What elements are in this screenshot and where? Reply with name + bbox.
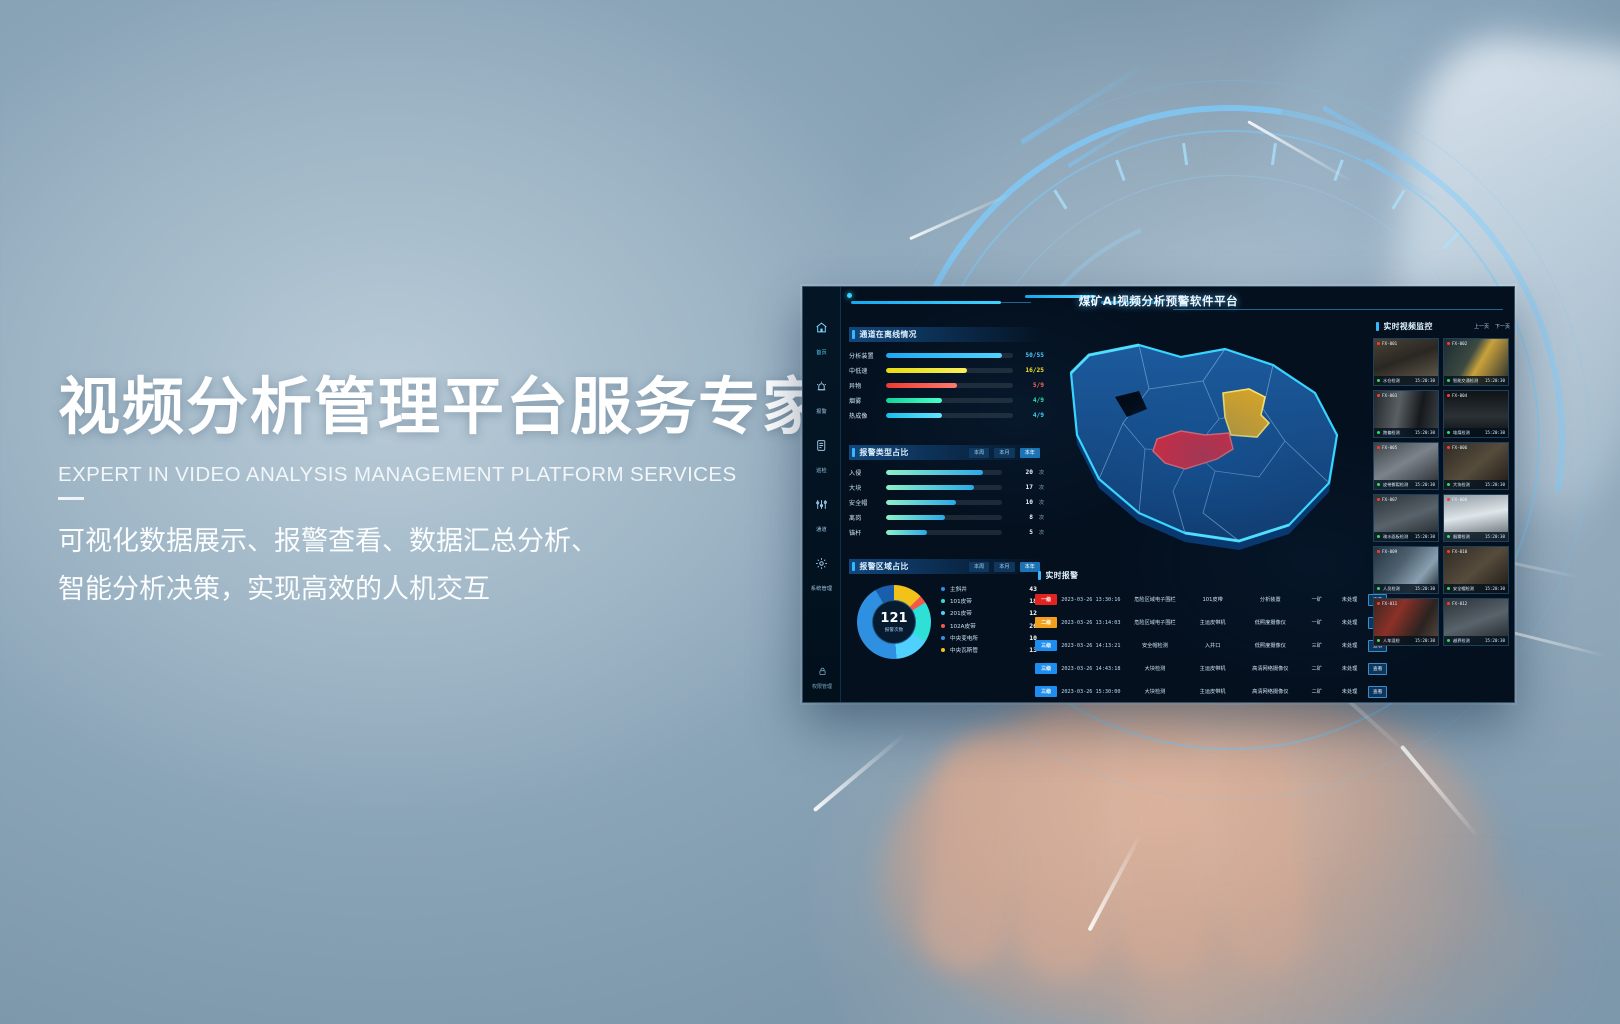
video-monitoring-panel: 实时视频监控 上一页 下一页 FX-001 水仓检测 15:20:30 FX-0…: [1373, 319, 1513, 699]
alarm-device: 低照度摄像仪: [1242, 642, 1299, 649]
camera-name: 越界检测: [1453, 638, 1485, 644]
bar-unit: 次: [1039, 469, 1044, 476]
hero-desc-line-2: 智能分析决策，实现高效的人机交互: [58, 566, 838, 614]
dashboard-title: 煤矿AI视频分析预警软件平台: [803, 293, 1514, 309]
sidebar-item-label: 系统管理: [811, 586, 833, 592]
sidebar-item-home[interactable]: 首页: [804, 321, 840, 359]
video-pagination: 上一页 下一页: [1474, 323, 1513, 330]
hero-desc-line-1: 可视化数据展示、报警查看、数据汇总分析、: [58, 518, 838, 566]
camera-id: FX-009: [1382, 549, 1397, 554]
bar-value: 4/9: [1018, 412, 1044, 419]
alarm-area-legend: 主斜井 43 101皮带 18 201皮带 12 102A皮带 26 中央变电所: [941, 583, 1037, 656]
tab-month[interactable]: 本月: [994, 562, 1014, 572]
tab-week[interactable]: 本周: [969, 448, 989, 458]
dashboard-sidebar: 首页 报警 巡检 通道: [803, 287, 841, 702]
bar-value: 50/55: [1018, 352, 1044, 359]
camera-time: 15:20:30: [1415, 378, 1435, 383]
bar-label: 烟雾: [849, 396, 881, 405]
sidebar-item-label: 报警: [816, 409, 827, 415]
camera-id: FX-001: [1382, 341, 1397, 346]
camera-id: FX-008: [1452, 497, 1467, 502]
camera-time: 15:20:30: [1415, 534, 1435, 539]
camera-name: 疏水面板检测: [1383, 534, 1415, 540]
camera-name: 人车混检: [1383, 638, 1415, 644]
video-grid: FX-001 水仓检测 15:20:30 FX-002 智能交通检测 15:20…: [1373, 338, 1509, 646]
alarm-mine: 二矿: [1303, 688, 1331, 695]
camera-name: 皮带撕裂检测: [1383, 482, 1415, 488]
prev-page-button[interactable]: 上一页: [1474, 323, 1489, 330]
camera-time: 15:20:30: [1485, 534, 1505, 539]
camera-id: FX-004: [1452, 393, 1467, 398]
alarm-time: 2023-03-26 13:14:03: [1061, 620, 1122, 626]
period-tabs: 本周 本月 本年: [969, 448, 1044, 458]
video-tile[interactable]: FX-001 水仓检测 15:20:30: [1373, 338, 1439, 386]
sidebar-item-alarm[interactable]: 报警: [804, 380, 840, 418]
panel-title-text: 报警区域占比: [860, 561, 909, 572]
alarm-type: 安全帽检测: [1126, 642, 1183, 649]
bar-label: 大块: [849, 483, 881, 492]
inspection-icon: [804, 439, 840, 457]
bar-track: [886, 413, 1013, 419]
region-map[interactable]: [1053, 331, 1353, 556]
gear-icon: [804, 557, 840, 575]
camera-name: 智能交通检测: [1453, 378, 1485, 384]
alarm-location: 主运皮带机: [1188, 688, 1238, 695]
alarm-type-row: 安全帽 10 次: [849, 495, 1044, 510]
bar-track: [886, 353, 1013, 359]
table-row[interactable]: 三级 2023-03-26 14:43:18 大块检测 主运皮带机 高清网络摄像…: [1035, 657, 1387, 680]
bar-track: [886, 485, 1002, 491]
camera-id: FX-010: [1452, 549, 1467, 554]
permission-icon: [818, 663, 827, 680]
dashboard-monitor: 煤矿AI视频分析预警软件平台 首页 报警: [802, 286, 1515, 703]
channel-bar-row: 分析装置 50/55: [849, 348, 1044, 363]
video-tile[interactable]: FX-005 皮带撕裂检测 15:20:30: [1373, 442, 1439, 490]
bar-unit: 次: [1039, 484, 1044, 491]
bar-track: [886, 515, 1002, 521]
home-icon: [804, 321, 840, 339]
camera-id: FX-007: [1382, 497, 1397, 502]
bar-value: 20: [1007, 469, 1033, 476]
table-row[interactable]: 三级 2023-03-26 15:30:00 大块检测 主运皮带机 高清网络摄像…: [1035, 680, 1387, 703]
bar-label: 离岗: [849, 513, 881, 522]
alarm-location: 主运皮带机: [1188, 619, 1238, 626]
alarm-time: 2023-03-26 14:13:21: [1061, 643, 1122, 649]
bar-track: [886, 398, 1013, 404]
camera-time: 15:20:30: [1485, 638, 1505, 643]
bar-label: 锚杆: [849, 528, 881, 537]
status-badge: 三级: [1035, 686, 1057, 697]
sidebar-item-label: 首页: [816, 350, 827, 356]
bar-value: 8: [1007, 514, 1033, 521]
alarm-device: 高清网络摄像仪: [1242, 665, 1299, 672]
channel-status-panel: 通道在离线情况 分析装置 50/55 中低速 16/25 异物 5/9 烟雾 4…: [849, 327, 1044, 432]
bar-label: 安全帽: [849, 498, 881, 507]
alarm-status: 未处理: [1335, 688, 1365, 695]
alarm-type-row: 入侵 20 次: [849, 465, 1044, 480]
alarm-type-bar-list: 入侵 20 次 大块 17 次 安全帽 10 次 离岗 8 次: [849, 465, 1044, 540]
camera-time: 15:20:30: [1485, 482, 1505, 487]
panel-header: 报警区域占比 本周 本月 本年: [849, 559, 1044, 574]
alarm-device: 低照度摄像仪: [1242, 619, 1299, 626]
bar-value: 10: [1007, 499, 1033, 506]
alarm-status: 未处理: [1335, 596, 1365, 603]
sidebar-item-label: 通道: [816, 527, 827, 533]
status-badge: 三级: [1035, 640, 1057, 651]
alarm-type-row: 锚杆 5 次: [849, 525, 1044, 540]
camera-name: 安全帽检测: [1453, 586, 1485, 592]
bar-track: [886, 500, 1002, 506]
alarm-icon: [804, 380, 840, 398]
sidebar-item-inspection[interactable]: 巡检: [804, 439, 840, 477]
alarm-type: 大块检测: [1126, 665, 1183, 672]
bar-unit: 次: [1039, 529, 1044, 536]
status-badge: 一级: [1035, 594, 1057, 605]
panel-header: 通道在离线情况: [849, 327, 1044, 342]
legend-label: 中央瓦斯管: [950, 646, 1029, 654]
channel-bar-row: 热成像 4/9: [849, 408, 1044, 423]
camera-name: 烟雾检测: [1453, 534, 1485, 540]
donut-center: 121 报警次数: [872, 600, 916, 644]
next-page-button[interactable]: 下一页: [1495, 323, 1510, 330]
legend-label: 201皮带: [950, 609, 1029, 617]
hero-divider: [58, 497, 84, 500]
status-badge: 三级: [1035, 663, 1057, 674]
bar-value: 5: [1007, 529, 1033, 536]
bar-track: [886, 383, 1013, 389]
bar-unit: 次: [1039, 514, 1044, 521]
camera-id: FX-002: [1452, 341, 1467, 346]
video-tile[interactable]: FX-010 安全帽检测 15:20:30: [1443, 546, 1509, 594]
bar-value: 16/25: [1018, 367, 1044, 374]
alarm-type: 危险区域电子围栏: [1126, 619, 1183, 626]
alarm-type: 大块检测: [1126, 688, 1183, 695]
alarm-mine: 一矿: [1303, 596, 1331, 603]
camera-time: 15:20:30: [1415, 586, 1435, 591]
dashboard-header: 煤矿AI视频分析预警软件平台: [803, 287, 1514, 319]
alarm-type-row: 大块 17 次: [849, 480, 1044, 495]
donut-center-value: 121: [880, 612, 907, 625]
bar-label: 异物: [849, 381, 881, 390]
alarm-location: 101皮带: [1188, 596, 1238, 603]
panel-header: 实时视频监控 上一页 下一页: [1373, 319, 1513, 334]
alarm-device: 高清网络摄像仪: [1242, 688, 1299, 695]
camera-time: 15:20:30: [1485, 378, 1505, 383]
legend-item: 201皮带 12: [941, 607, 1037, 619]
video-tile[interactable]: FX-009 人员检测 15:20:30: [1373, 546, 1439, 594]
video-tile[interactable]: FX-012 越界检测 15:20:30: [1443, 598, 1509, 646]
sidebar-item-system-management[interactable]: 系统管理: [804, 557, 840, 595]
video-tile[interactable]: FX-011 人车混检 15:20:30: [1373, 598, 1439, 646]
legend-item: 中央变电所 10: [941, 632, 1037, 644]
hero-subtitle-en: EXPERT IN VIDEO ANALYSIS MANAGEMENT PLAT…: [58, 463, 838, 487]
alarm-type-row: 离岗 8 次: [849, 510, 1044, 525]
bar-label: 入侵: [849, 468, 881, 477]
alarm-time: 2023-03-26 15:30:00: [1061, 689, 1122, 695]
legend-item: 主斜井 43: [941, 583, 1037, 595]
channel-bar-row: 中低速 16/25: [849, 363, 1044, 378]
camera-name: 跑偏检测: [1383, 430, 1415, 436]
panel-title-text: 实时报警: [1046, 570, 1079, 581]
period-tabs: 本周 本月 本年: [969, 562, 1044, 572]
camera-id: FX-003: [1382, 393, 1397, 398]
legend-label: 102A皮带: [950, 622, 1029, 630]
alarm-location: 主运皮带机: [1188, 665, 1238, 672]
status-badge: 二级: [1035, 617, 1057, 628]
panel-header: 报警类型占比 本周 本月 本年: [849, 445, 1044, 460]
camera-id: FX-011: [1382, 601, 1397, 606]
channel-bar-list: 分析装置 50/55 中低速 16/25 异物 5/9 烟雾 4/9 热成像: [849, 348, 1044, 423]
panel-title-text: 报警类型占比: [860, 447, 909, 458]
camera-time: 15:20:30: [1415, 638, 1435, 643]
camera-id: FX-012: [1452, 601, 1467, 606]
camera-id: FX-005: [1382, 445, 1397, 450]
hero-copy: 视频分析管理平台服务专家 EXPERT IN VIDEO ANALYSIS MA…: [58, 372, 838, 615]
bar-track: [886, 530, 1002, 536]
bar-label: 中低速: [849, 366, 881, 375]
bar-label: 分析装置: [849, 351, 881, 360]
camera-time: 15:20:30: [1415, 482, 1435, 487]
alarm-time: 2023-03-26 14:43:18: [1061, 666, 1122, 672]
alarm-mine: 一矿: [1303, 619, 1331, 626]
realtime-alarm-panel: 实时报警 一级 2023-03-26 13:30:16 危险区域电子围栏 101…: [1035, 568, 1387, 698]
video-tile[interactable]: FX-002 智能交通检测 15:20:30: [1443, 338, 1509, 386]
bar-value: 5/9: [1018, 382, 1044, 389]
bar-label: 热成像: [849, 411, 881, 420]
channel-bar-row: 异物 5/9: [849, 378, 1044, 393]
sidebar-item-label: 巡检: [816, 468, 827, 474]
camera-name: 人员检测: [1383, 586, 1415, 592]
legend-item: 中央瓦斯管 13: [941, 644, 1037, 656]
legend-label: 主斜井: [950, 585, 1029, 593]
bar-value: 17: [1007, 484, 1033, 491]
camera-id: FX-006: [1452, 445, 1467, 450]
video-tile[interactable]: FX-006 大块检测 15:20:30: [1443, 442, 1509, 490]
tab-month[interactable]: 本月: [994, 448, 1014, 458]
channel-bar-row: 烟雾 4/9: [849, 393, 1044, 408]
alarm-area-donut-chart: 121 报警次数: [857, 585, 931, 659]
alarm-device: 分析装置: [1242, 596, 1299, 603]
table-row[interactable]: 一级 2023-03-26 13:30:16 危险区域电子围栏 101皮带 分析…: [1035, 588, 1387, 611]
sidebar-item-channel[interactable]: 通道: [804, 498, 840, 536]
channel-icon: [804, 498, 840, 516]
alarm-mine: 三矿: [1303, 642, 1331, 649]
alarm-status: 未处理: [1335, 619, 1365, 626]
camera-time: 15:20:30: [1485, 430, 1505, 435]
panel-title-text: 实时视频监控: [1384, 321, 1433, 332]
alarm-type: 危险区域电子围栏: [1126, 596, 1183, 603]
video-tile[interactable]: FX-003 跑偏检测 15:20:30: [1373, 390, 1439, 438]
alarm-type-panel: 报警类型占比 本周 本月 本年 入侵 20 次 大块 17 次 安全帽: [849, 445, 1044, 545]
alarm-status: 未处理: [1335, 665, 1365, 672]
bar-unit: 次: [1039, 499, 1044, 506]
video-tile[interactable]: FX-004 堆煤检测 15:20:30: [1443, 390, 1509, 438]
legend-label: 中央变电所: [950, 634, 1029, 642]
table-row[interactable]: 三级 2023-03-26 14:13:21 安全帽检测 入井口 低照度摄像仪 …: [1035, 634, 1387, 657]
video-tile[interactable]: FX-007 疏水面板检测 15:20:30: [1373, 494, 1439, 542]
bar-track: [886, 368, 1013, 374]
camera-time: 15:20:30: [1485, 586, 1505, 591]
video-tile[interactable]: FX-008 烟雾检测 15:20:30: [1443, 494, 1509, 542]
legend-item: 101皮带 18: [941, 595, 1037, 607]
sidebar-footer-label: 权限管理: [803, 683, 841, 690]
panel-title-text: 通道在离线情况: [860, 329, 917, 340]
alarm-area-panel: 报警区域占比 本周 本月 本年 121 报警次数 主斜井 43 101皮带: [849, 559, 1044, 687]
alarm-table: 一级 2023-03-26 13:30:16 危险区域电子围栏 101皮带 分析…: [1035, 588, 1387, 703]
alarm-mine: 二矿: [1303, 665, 1331, 672]
camera-name: 堆煤检测: [1453, 430, 1485, 436]
tab-year[interactable]: 本年: [1020, 448, 1040, 458]
tab-week[interactable]: 本周: [969, 562, 989, 572]
camera-name: 水仓检测: [1383, 378, 1415, 384]
alarm-time: 2023-03-26 13:30:16: [1061, 597, 1122, 603]
alarm-location: 入井口: [1188, 642, 1238, 649]
donut-center-label: 报警次数: [885, 627, 903, 633]
sidebar-footer[interactable]: 权限管理: [803, 663, 841, 690]
panel-header: 实时报警: [1035, 568, 1105, 583]
bar-track: [886, 470, 1002, 476]
legend-item: 102A皮带 26: [941, 620, 1037, 632]
camera-time: 15:20:30: [1415, 430, 1435, 435]
camera-name: 大块检测: [1453, 482, 1485, 488]
table-row[interactable]: 二级 2023-03-26 13:14:03 危险区域电子围栏 主运皮带机 低照…: [1035, 611, 1387, 634]
legend-label: 101皮带: [950, 597, 1029, 605]
alarm-status: 未处理: [1335, 642, 1365, 649]
page-title: 视频分析管理平台服务专家: [58, 372, 838, 441]
bar-value: 4/9: [1018, 397, 1044, 404]
